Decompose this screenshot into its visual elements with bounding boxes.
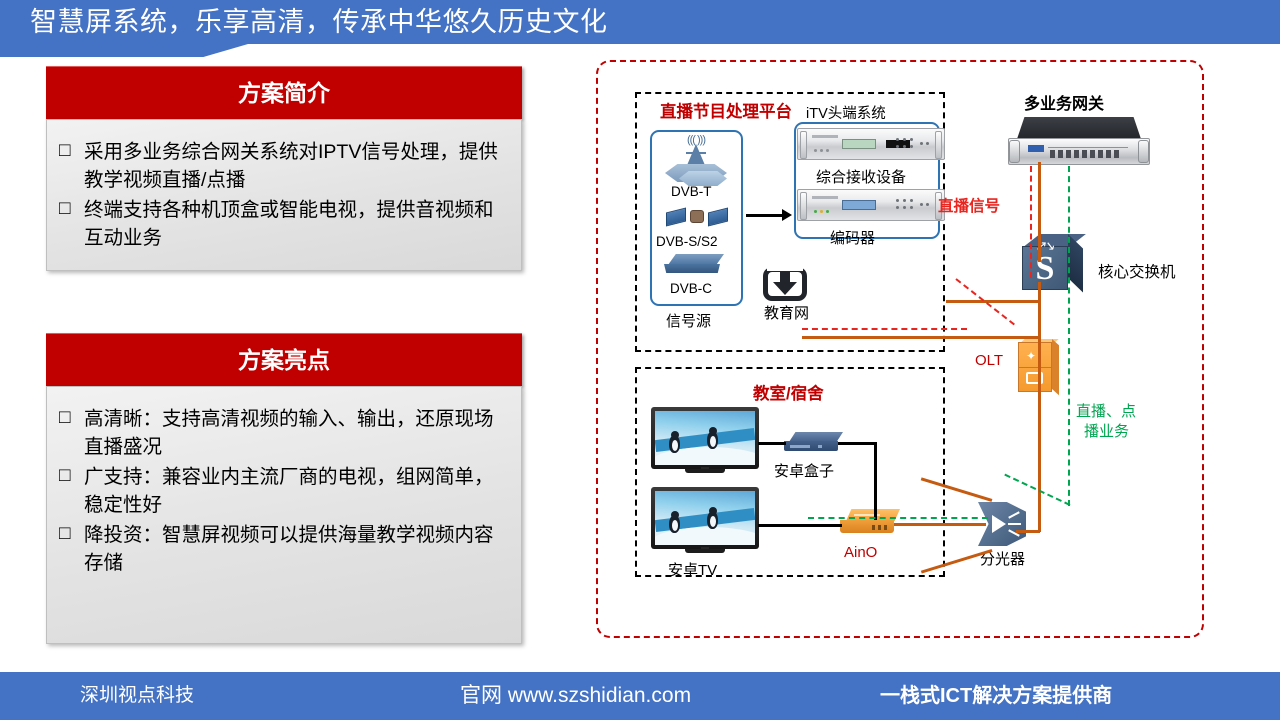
switch-s-glyph: S: [1022, 246, 1068, 290]
list-item: 终端支持各种机顶盒或智能电视，提供音视频和互动业务: [57, 196, 507, 252]
label-edunet: 教育网: [764, 302, 809, 323]
title-bar-tab-shape: [0, 44, 248, 57]
label-live-signal: 直播信号: [938, 194, 1000, 216]
dvb-c-box-icon: [664, 254, 728, 276]
optical-splitter-icon: [978, 502, 1032, 546]
panel-highlights-body: 高清晰：支持高清视频的输入、输出，还原现场直播盛况 广支持：兼容业内主流厂商的电…: [46, 386, 522, 644]
label-encoder: 编码器: [830, 227, 875, 248]
list-item: 降投资：智慧屏视频可以提供海量教学视频内容存储: [57, 521, 507, 577]
label-dvb-c: DVB-C: [670, 281, 712, 296]
intro-bullet-list: 采用多业务综合网关系统对IPTV信号处理，提供教学视频直播/点播 终端支持各种机…: [57, 138, 507, 252]
label-dvb-s: DVB-S/S2: [656, 234, 718, 249]
footer-company: 深圳视点科技: [80, 672, 194, 720]
dvb-s-satellite-icon: [666, 204, 728, 236]
list-item: 广支持：兼容业内主流厂商的电视，组网简单，稳定性好: [57, 463, 507, 519]
network-topology-diagram: 直播节目处理平台 iTV头端系统 教室/宿舍 ((( ))) DVB-T DVB…: [596, 60, 1204, 638]
android-box-icon: [784, 432, 846, 454]
fiber-down-to-splitter: [1016, 530, 1040, 533]
television-icon-top: [651, 407, 759, 479]
label-vod-line2: 播业务: [1084, 420, 1129, 441]
group-title-classroom: 教室/宿舍: [753, 380, 824, 404]
label-itv-headend: iTV头端系统: [806, 102, 886, 123]
list-item: 采用多业务综合网关系统对IPTV信号处理，提供教学视频直播/点播: [57, 138, 507, 194]
multiservice-gateway-icon: [1008, 117, 1150, 167]
vod-service-path-v: [1068, 166, 1070, 506]
connector-tv-to-aino: [758, 524, 842, 527]
list-item: 高清晰：支持高清视频的输入、输出，还原现场直播盛况: [57, 405, 507, 461]
fiber-edunet-to-switch: [802, 336, 1040, 339]
panel-highlights-header: 方案亮点: [46, 333, 522, 386]
page-title: 智慧屏系统，乐享高清，传承中华悠久历史文化: [30, 4, 608, 40]
label-android-tv: 安卓TV: [668, 559, 717, 580]
panel-intro-body: 采用多业务综合网关系统对IPTV信号处理，提供教学视频直播/点播 终端支持各种机…: [46, 119, 522, 271]
fiber-headend-to-switch: [946, 300, 1040, 303]
fiber-switch-to-splitter: [1038, 282, 1041, 532]
connector-tv-to-androidbox: [758, 442, 786, 445]
label-ird: 综合接收设备: [816, 166, 906, 187]
footer-bar: 深圳视点科技 官网 www.szshidian.com 一栈式ICT解决方案提供…: [0, 672, 1280, 720]
connector-androidbox-to-aino-h: [838, 442, 876, 445]
dvb-t-tower-icon: ((( ))): [665, 138, 727, 186]
label-olt: OLT: [975, 352, 1003, 369]
highlights-bullet-list: 高清晰：支持高清视频的输入、输出，还原现场直播盛况 广支持：兼容业内主流厂商的电…: [57, 405, 507, 577]
connector-androidbox-to-aino-v: [874, 442, 877, 520]
connector-source-to-headend: [746, 214, 784, 217]
arrowhead-icon: [782, 209, 792, 221]
vod-service-path-h: [808, 517, 988, 519]
label-aino: AinO: [844, 544, 877, 561]
fiber-gateway-to-switch: [1038, 162, 1041, 262]
panel-solution-intro: 方案简介 采用多业务综合网关系统对IPTV信号处理，提供教学视频直播/点播 终端…: [46, 66, 522, 271]
footer-website: 官网 www.szshidian.com: [460, 672, 691, 720]
aino-device-icon: [840, 509, 902, 537]
education-network-download-icon: [763, 267, 807, 301]
label-vod-line1: 直播、点: [1076, 400, 1136, 421]
footer-slogan: 一栈式ICT解决方案提供商: [880, 672, 1112, 720]
television-icon-bottom: [651, 487, 759, 559]
label-gateway: 多业务网关: [1024, 90, 1104, 114]
label-android-box: 安卓盒子: [774, 460, 834, 481]
fiber-aino-to-splitter: [894, 523, 986, 526]
live-signal-path-h1: [802, 328, 967, 330]
group-title-broadcast-platform: 直播节目处理平台: [660, 98, 792, 122]
ird-device-icon: [797, 128, 945, 160]
label-signal-source: 信号源: [666, 310, 711, 331]
encoder-device-icon: [797, 189, 945, 221]
panel-intro-header: 方案简介: [46, 66, 522, 119]
olt-splitter-glyph: ✦: [1026, 350, 1036, 362]
label-dvb-t: DVB-T: [671, 184, 712, 199]
live-signal-path-v: [1030, 166, 1032, 278]
label-core-switch: 核心交换机: [1098, 260, 1176, 282]
panel-solution-highlights: 方案亮点 高清晰：支持高清视频的输入、输出，还原现场直播盛况 广支持：兼容业内主…: [46, 333, 522, 644]
